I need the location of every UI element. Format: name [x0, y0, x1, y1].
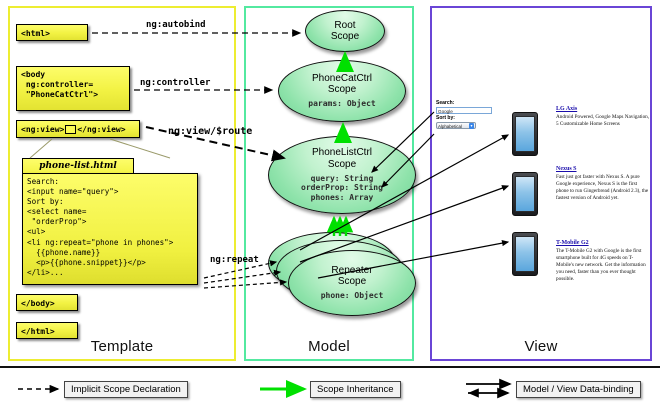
- legend-item-inheritance: Scope Inheritance: [310, 381, 401, 398]
- scope-root-label: Root Scope: [331, 20, 359, 42]
- search-input[interactable]: Google: [436, 107, 492, 114]
- phone-screen: [515, 176, 535, 212]
- phone-snippet: Android Powered, Google Maps Navigation,…: [556, 114, 650, 128]
- edge-label-autobind: ng:autobind: [146, 20, 206, 30]
- phone-link[interactable]: T-Mobile G2: [556, 240, 650, 246]
- edge-label-repeat: ng:repeat: [210, 255, 259, 265]
- scope-phonelistctrl-label: PhoneListCtrl Scope: [312, 147, 372, 169]
- scope-phonecatctrl: PhoneCatCtrl Scope params: Object: [278, 60, 406, 122]
- note-title-tab: phone-list.html: [22, 158, 134, 174]
- code-box-ngview: <ng:view></ng:view>: [16, 120, 140, 138]
- diagram-canvas: Template Model View <html> <body ng:cont…: [0, 0, 660, 405]
- edge-label-controller: ng:controller: [140, 78, 210, 88]
- edge-label-route: ng:view/$route: [168, 126, 252, 137]
- view-search-form: Search: Google Sort by: Alphabetical ▾: [436, 100, 496, 129]
- ngview-slot-icon: [65, 125, 76, 134]
- scope-repeater-label: Repeater Scope: [331, 265, 372, 287]
- code-box-body-close: </body>: [16, 294, 78, 311]
- phone-snippet: Fast just got faster with Nexus S. A pur…: [556, 174, 650, 202]
- list-item: Nexus S Fast just got faster with Nexus …: [556, 166, 650, 202]
- scope-phonecatctrl-props: params: Object: [308, 99, 375, 109]
- sort-select[interactable]: Alphabetical ▾: [436, 122, 476, 130]
- search-label: Search:: [436, 100, 496, 107]
- scope-repeater: Repeater Scope phone: Object: [288, 250, 416, 316]
- phone-link[interactable]: LG Axis: [556, 106, 650, 112]
- scope-repeater-props: phone: Object: [321, 291, 384, 301]
- chevron-down-icon: ▾: [469, 123, 474, 129]
- phone-screen: [515, 236, 535, 272]
- phone-thumbnail-lg-axis: [512, 112, 538, 156]
- scope-repeater-stack: Repeater Scope phone: Object: [268, 232, 420, 320]
- scope-phonelistctrl-props: query: String orderProp: String phones: …: [301, 174, 383, 203]
- legend-item-databinding: Model / View Data-binding: [516, 381, 641, 398]
- sort-select-value: Alphabetical: [438, 124, 462, 129]
- scope-root: Root Scope: [305, 10, 385, 52]
- phone-thumbnail-tmobile-g2: [512, 232, 538, 276]
- phone-thumbnail-nexus-s: [512, 172, 538, 216]
- column-template-title: Template: [10, 338, 234, 355]
- code-box-html-close: </html>: [16, 322, 78, 339]
- column-view-title: View: [432, 338, 650, 355]
- scope-phonelistctrl: PhoneListCtrl Scope query: String orderP…: [268, 136, 416, 214]
- list-item: T-Mobile G2 The T-Mobile G2 with Google …: [556, 240, 650, 283]
- list-item: LG Axis Android Powered, Google Maps Nav…: [556, 106, 650, 128]
- phone-screen: [515, 116, 535, 152]
- column-model-title: Model: [246, 338, 412, 355]
- legend-item-implicit: Implicit Scope Declaration: [64, 381, 188, 398]
- code-box-body-open: <body ng:controller= "PhoneCatCtrl">: [16, 66, 130, 111]
- ngview-open-tag: <ng:view>: [21, 125, 64, 134]
- template-note-phone-list: phone-list.html Search: <input name="que…: [22, 158, 198, 288]
- sort-label: Sort by:: [436, 115, 496, 122]
- note-code: Search: <input name="query"> Sort by: <s…: [22, 173, 198, 285]
- code-box-html-open: <html>: [16, 24, 88, 41]
- note-title: phone-list.html: [23, 159, 133, 173]
- phone-link[interactable]: Nexus S: [556, 166, 650, 172]
- scope-phonecatctrl-label: PhoneCatCtrl Scope: [312, 73, 372, 95]
- phone-snippet: The T-Mobile G2 with Google is the first…: [556, 248, 650, 283]
- ngview-close-tag: </ng:view>: [77, 125, 125, 134]
- legend-divider: [0, 366, 660, 368]
